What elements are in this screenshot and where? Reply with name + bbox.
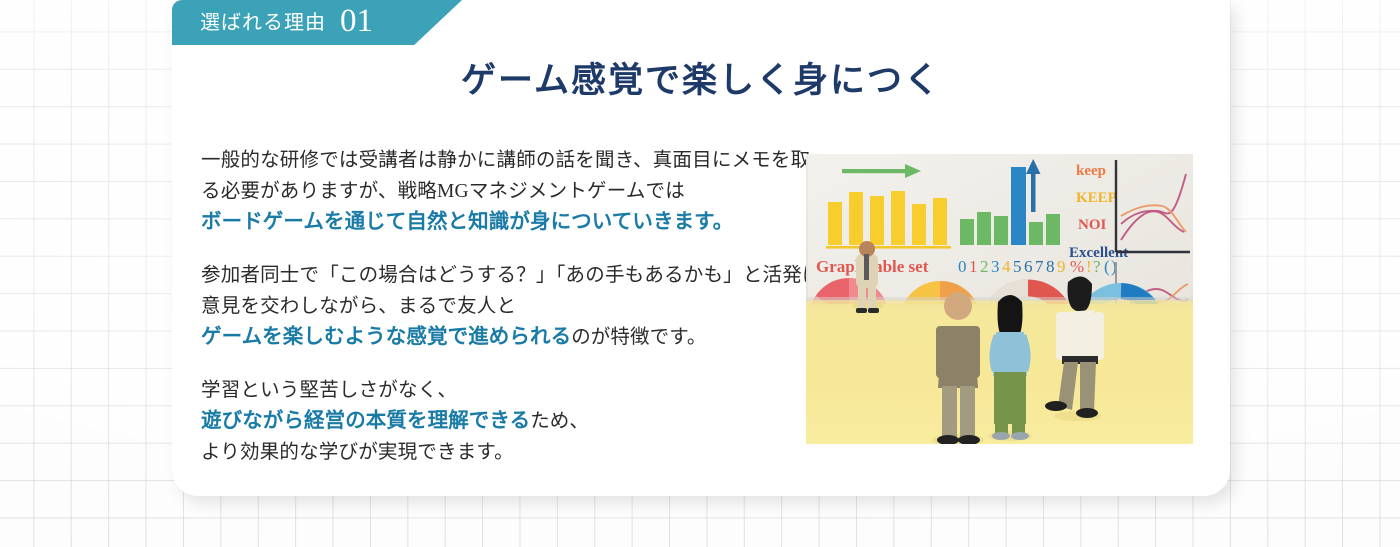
page-title: ゲーム感覚で楽しく身につく: [172, 52, 1230, 103]
svg-text:0: 0: [958, 257, 967, 276]
emphasis-text: ゲームを楽しむような感覚で進められる: [201, 326, 571, 348]
copy-line: 意見を交わしながら、まるで友人と: [201, 291, 786, 322]
copy-line: 一般的な研修では受講者は静かに講師の話を聞き、真面目にメモを取: [201, 145, 786, 176]
photo-illustration: Graph table set 0 1: [806, 154, 1193, 444]
photo-caption-noi: NOI: [1078, 217, 1107, 233]
feature-card: ゲーム感覚で楽しく身につく 一般的な研修では受講者は静かに講師の話を聞き、真面目…: [172, 0, 1230, 496]
svg-text:6: 6: [1024, 257, 1033, 276]
svg-text:1: 1: [969, 257, 978, 276]
paragraph-3: 学習という堅苦しさがなく、 遊びながら経営の本質を理解できるため、 より効果的な…: [201, 375, 786, 468]
reason-badge-number: 01: [340, 5, 373, 38]
paragraph-2: 参加者同士で「この場合はどうする？」「あの手もあるかも」と活発に 意見を交わしな…: [201, 260, 786, 353]
svg-text:9: 9: [1057, 257, 1066, 276]
svg-text:3: 3: [991, 257, 1000, 276]
copy-line: より効果的な学びが実現できます。: [201, 437, 786, 468]
emphasis-tail: のが特徴です。: [571, 327, 706, 348]
emphasis-text: 遊びながら経営の本質を理解できる: [201, 410, 530, 432]
copy-line: る必要がありますが、戦略MGマネジメントゲームでは: [201, 176, 786, 207]
copy-line-emphasis: 遊びながら経営の本質を理解できるため、: [201, 406, 786, 437]
svg-text:2: 2: [980, 257, 989, 276]
svg-text:5: 5: [1013, 257, 1022, 276]
emphasis-tail: ため、: [530, 411, 589, 432]
copy-line: 学習という堅苦しさがなく、: [201, 375, 786, 406]
copy-line-emphasis: ゲームを楽しむような感覚で進められるのが特徴です。: [201, 322, 786, 353]
svg-text:8: 8: [1046, 257, 1055, 276]
copy-line: 参加者同士で「この場合はどうする？」「あの手もあるかも」と活発に: [201, 260, 786, 291]
emphasis-text: ボードゲームを通じて自然と知識が身についていきます。: [201, 211, 733, 233]
reason-badge: 選ばれる理由 01: [172, 0, 462, 45]
paragraph-1: 一般的な研修では受講者は静かに講師の話を聞き、真面目にメモを取 る必要があります…: [201, 145, 786, 238]
body-copy: 一般的な研修では受講者は静かに講師の話を聞き、真面目にメモを取 る必要があります…: [201, 145, 786, 468]
svg-text:4: 4: [1002, 257, 1011, 276]
photo-caption-kitt: KEEP: [1076, 190, 1117, 206]
photo-caption-keep: keep: [1076, 163, 1106, 179]
page-root: ゲーム感覚で楽しく身につく 一般的な研修では受講者は静かに講師の話を聞き、真面目…: [0, 0, 1400, 547]
reason-badge-label: 選ばれる理由: [200, 13, 326, 33]
feature-photo: Graph table set 0 1: [806, 154, 1193, 444]
svg-text:7: 7: [1035, 257, 1044, 276]
copy-line-emphasis: ボードゲームを通じて自然と知識が身についていきます。: [201, 207, 786, 238]
